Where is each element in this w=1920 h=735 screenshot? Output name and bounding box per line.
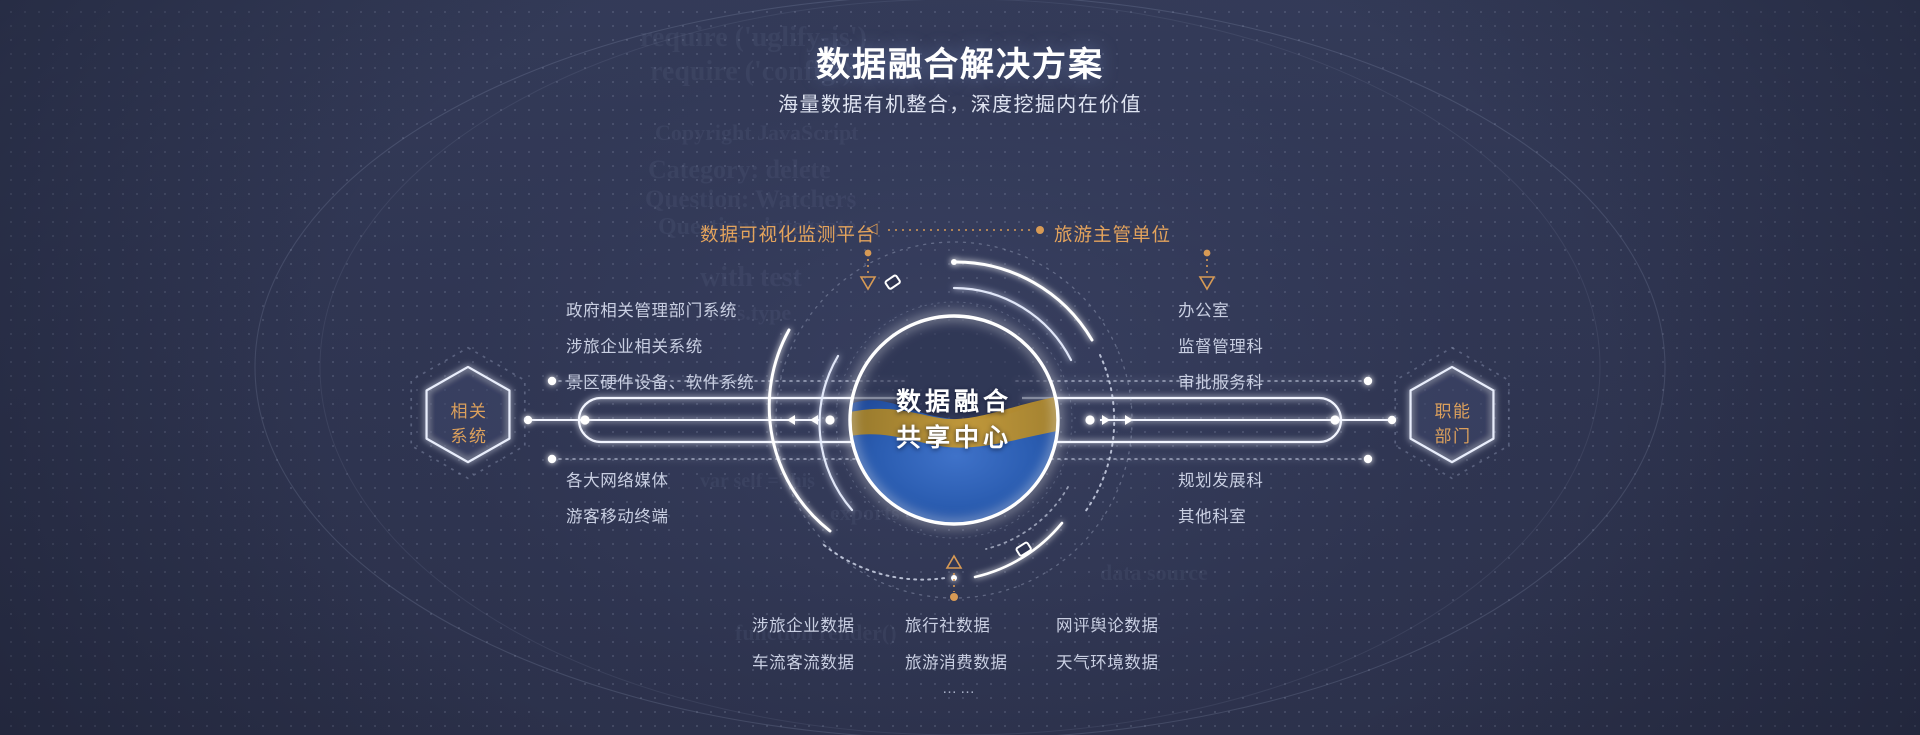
left-hexagon-label: 相关 系统 — [424, 399, 514, 449]
hub-label: 数据融合 共享中心 — [834, 300, 1074, 540]
label-visualization-platform[interactable]: 数据可视化监测平台 — [700, 221, 860, 247]
right-dept-item-3[interactable]: 规划发展科 — [1178, 467, 1264, 491]
orbit-node-square-1 — [885, 275, 901, 290]
left-source-item-0[interactable]: 政府相关管理部门系统 — [566, 297, 737, 321]
page-title: 数据融合解决方案 — [0, 37, 1920, 86]
connector-arrow-icon: ◁ — [866, 219, 878, 237]
hub-node[interactable]: 数据融合 共享中心 — [834, 300, 1074, 540]
bottom-data-ellipsis: …… — [0, 680, 1920, 697]
hub-label-line2: 共享中心 — [896, 420, 1012, 456]
left-hexagon-label-line1: 相关 — [424, 399, 514, 424]
left-source-item-2[interactable]: 景区硬件设备、软件系统 — [566, 369, 754, 393]
bottom-data-1-2[interactable]: 天气环境数据 — [1056, 649, 1159, 673]
bottom-data-1-0[interactable]: 车流客流数据 — [752, 649, 855, 673]
bottom-data-1-1[interactable]: 旅游消费数据 — [905, 649, 1008, 673]
left-source-item-3[interactable]: 各大网络媒体 — [566, 467, 669, 491]
platform-drop-marker — [861, 250, 875, 289]
right-hexagon-label-line2: 部门 — [1408, 424, 1498, 449]
right-dept-item-1[interactable]: 监督管理科 — [1178, 333, 1264, 357]
infographic-canvas: require ('uglify-js')require ('config')C… — [0, 0, 1920, 735]
page-subtitle: 海量数据有机整合，深度挖掘内在价值 — [0, 88, 1920, 117]
bottom-data-0-0[interactable]: 涉旅企业数据 — [752, 612, 855, 636]
right-dept-item-4[interactable]: 其他科室 — [1178, 503, 1246, 527]
right-hexagon-label-line1: 职能 — [1408, 399, 1498, 424]
hub-label-line1: 数据融合 — [896, 384, 1012, 420]
left-hexagon-label-line2: 系统 — [424, 424, 514, 449]
top-link-connector — [888, 226, 1044, 234]
bottom-data-0-2[interactable]: 网评舆论数据 — [1056, 612, 1159, 636]
left-source-item-4[interactable]: 游客移动终端 — [566, 503, 669, 527]
right-hexagon-label: 职能 部门 — [1408, 399, 1498, 449]
right-dept-item-2[interactable]: 审批服务科 — [1178, 369, 1264, 393]
bottom-data-0-1[interactable]: 旅行社数据 — [905, 612, 991, 636]
authority-drop-marker — [1200, 250, 1214, 289]
label-tourism-authority[interactable]: 旅游主管单位 — [1054, 221, 1171, 247]
right-dept-item-0[interactable]: 办公室 — [1178, 297, 1229, 321]
left-source-item-1[interactable]: 涉旅企业相关系统 — [566, 333, 703, 357]
